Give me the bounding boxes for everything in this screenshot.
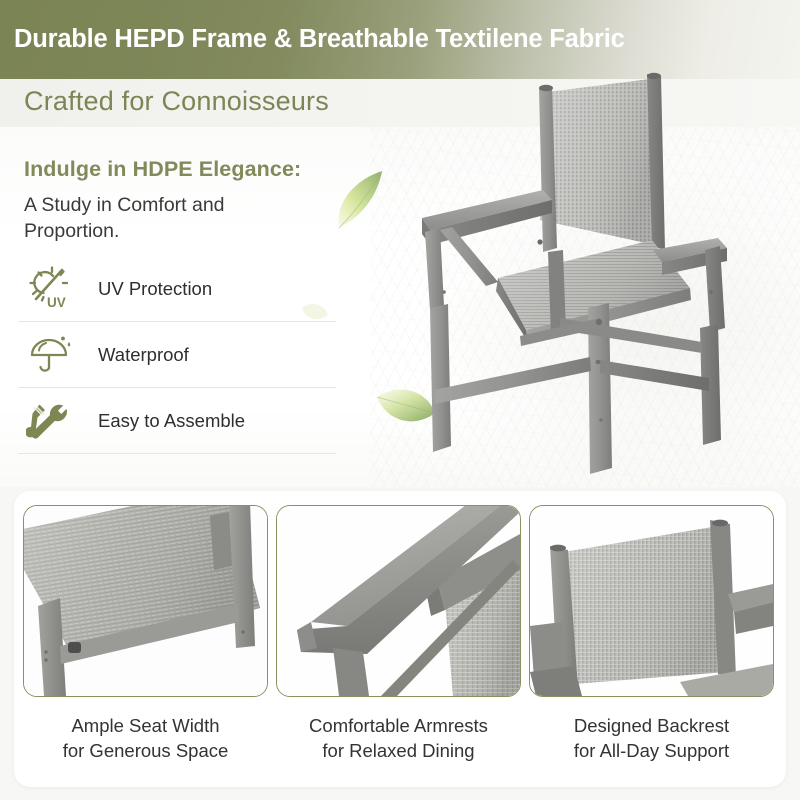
feature-label: UV Protection [82, 278, 212, 300]
feature-row-easy-to-assemble: Easy to Assemble [18, 388, 336, 454]
thumbnail-card: Ample Seat Width for Generous Space [14, 491, 786, 787]
lead-heading: Indulge in HDPE Elegance: [24, 157, 301, 182]
hero-chair-image [400, 60, 800, 490]
thumbnail-caption: Comfortable Armrests for Relaxed Dining [309, 713, 488, 763]
thumbnail-item: Designed Backrest for All-Day Support [530, 505, 773, 763]
thumbnail-item: Comfortable Armrests for Relaxed Dining [277, 505, 520, 763]
feature-row-uv-protection: UV UV Protection [18, 256, 336, 322]
thumbnail-caption: Designed Backrest for All-Day Support [574, 713, 729, 763]
thumbnail-caption: Ample Seat Width for Generous Space [63, 713, 229, 763]
thumbnail-row: Ample Seat Width for Generous Space [14, 491, 786, 763]
feature-label: Waterproof [82, 344, 189, 366]
lead-body: A Study in Comfort and Proportion. [24, 192, 324, 244]
thumbnail-item: Ample Seat Width for Generous Space [24, 505, 267, 763]
umbrella-icon [18, 329, 82, 381]
infographic-page: Durable HEPD Frame & Breathable Textilen… [0, 0, 800, 800]
feature-label: Easy to Assemble [82, 410, 245, 432]
thumbnail-image-chair-backrest-closeup[interactable] [529, 505, 774, 697]
subtitle-text: Crafted for Connoisseurs [24, 86, 329, 117]
thumbnail-image-chair-armrest-closeup[interactable] [276, 505, 521, 697]
svg-text:UV: UV [47, 295, 66, 310]
header-title: Durable HEPD Frame & Breathable Textilen… [14, 25, 625, 54]
thumbnail-image-chair-seat-closeup[interactable] [23, 505, 268, 697]
uv-sun-icon: UV [18, 263, 82, 315]
feature-row-waterproof: Waterproof [18, 322, 336, 388]
feature-list: UV UV Protection Waterproof [18, 256, 336, 454]
wrench-screwdriver-icon [18, 395, 82, 447]
